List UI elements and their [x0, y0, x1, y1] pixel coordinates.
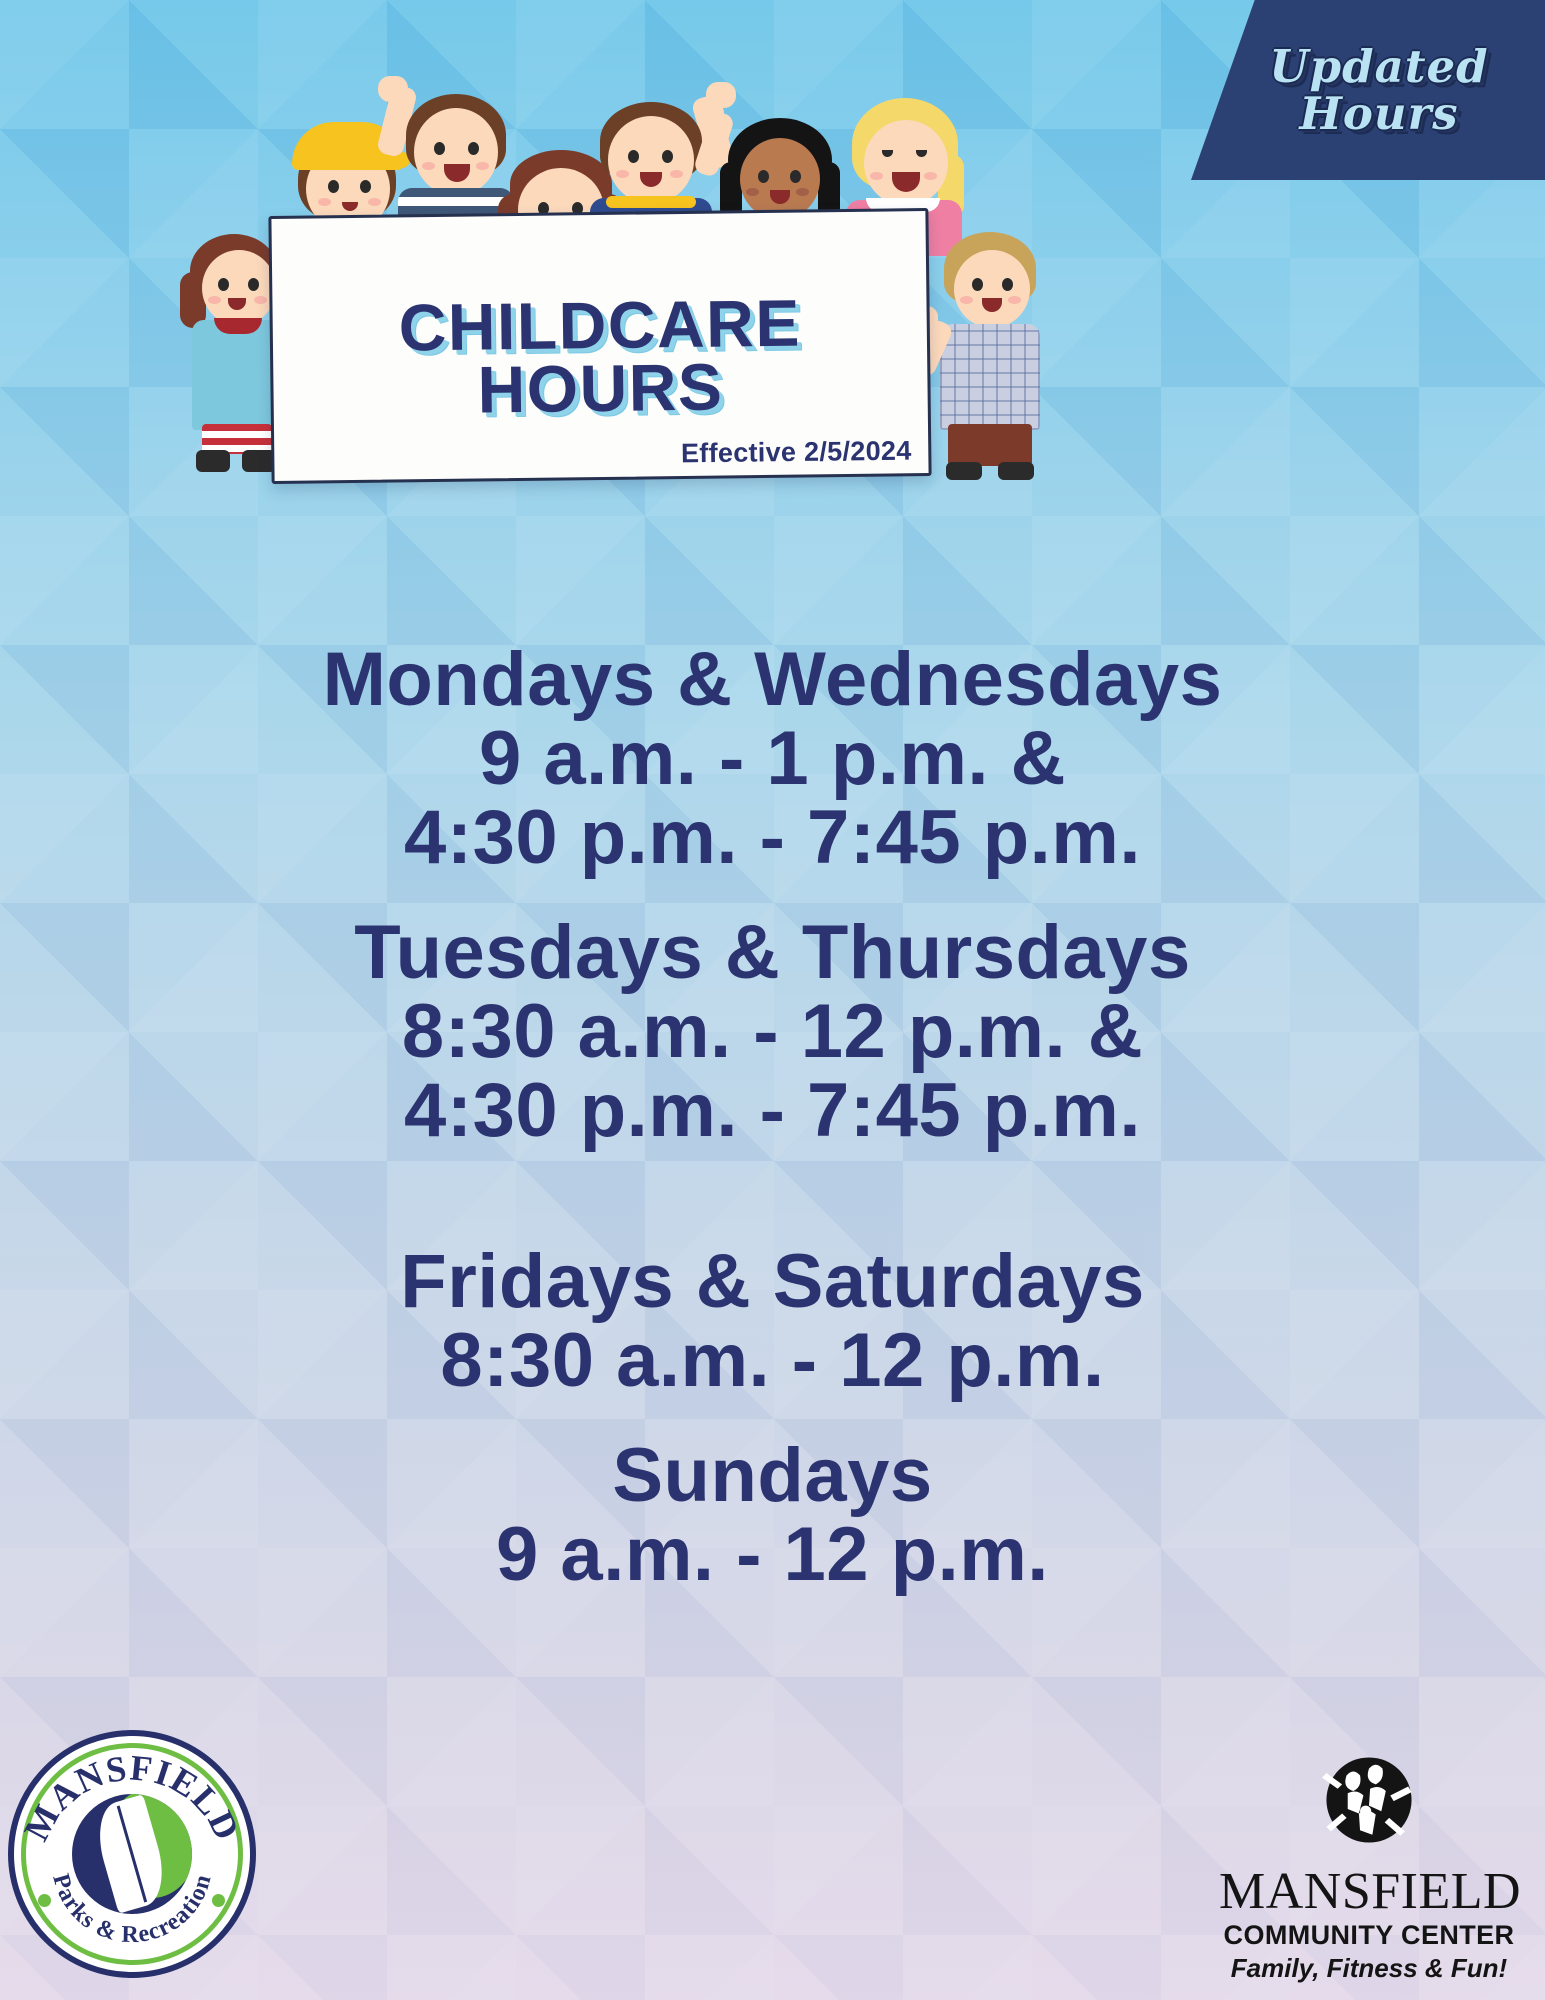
schedule-time-1-1: 4:30 p.m. - 7:45 p.m. — [0, 1071, 1545, 1150]
schedule-block-1: Tuesdays & Thursdays 8:30 a.m. - 12 p.m.… — [0, 913, 1545, 1150]
logo-arc-top-textpath: MANSFIELD — [16, 1747, 248, 1847]
schedule-block-0: Mondays & Wednesdays 9 a.m. - 1 p.m. & 4… — [0, 640, 1545, 877]
schedule-gap-0 — [0, 881, 1545, 913]
poster-canvas: Updated Hours — [0, 0, 1545, 2000]
mansfield-parks-recreation-logo: MANSFIELD Parks & Recreation — [8, 1730, 256, 1978]
schedule-time-3-0: 9 a.m. - 12 p.m. — [0, 1515, 1545, 1594]
schedule-block-3: Sundays 9 a.m. - 12 p.m. — [0, 1436, 1545, 1594]
logo-arc-bottom-text: Parks & Recreation — [47, 1871, 217, 1948]
effective-date: Effective 2/5/2024 — [681, 436, 912, 470]
schedule-gap-1 — [0, 1154, 1545, 1242]
schedule-day-1: Tuesdays & Thursdays — [0, 913, 1545, 992]
schedule-time-2-0: 8:30 a.m. - 12 p.m. — [0, 1321, 1545, 1400]
ribbon-line-2: Hours — [1299, 90, 1458, 137]
schedule-time-1-0: 8:30 a.m. - 12 p.m. & — [0, 992, 1545, 1071]
schedule-time-0-0: 9 a.m. - 1 p.m. & — [0, 719, 1545, 798]
sign-board: CHILDCARE HOURS Effective 2/5/2024 — [270, 212, 930, 480]
cc-logo-subtitle: COMMUNITY CENTER — [1219, 1920, 1519, 1951]
page-title-line-1: CHILDCARE — [398, 292, 801, 360]
kid-right-boy — [930, 228, 1060, 483]
schedule-day-3: Sundays — [0, 1436, 1545, 1515]
schedule-block-2: Fridays & Saturdays 8:30 a.m. - 12 p.m. — [0, 1242, 1545, 1400]
schedule-gap-2 — [0, 1404, 1545, 1436]
schedule-time-0-1: 4:30 p.m. - 7:45 p.m. — [0, 798, 1545, 877]
cc-logo-name: MANSFIELD — [1219, 1867, 1519, 1918]
logo-arc-bottom-textpath: Parks & Recreation — [47, 1871, 217, 1948]
schedule-list: Mondays & Wednesdays 9 a.m. - 1 p.m. & 4… — [0, 640, 1545, 1598]
mansfield-community-center-logo: MANSFIELD COMMUNITY CENTER Family, Fitne… — [1219, 1744, 1519, 1984]
logo-arc-text: MANSFIELD Parks & Recreation — [8, 1730, 256, 1978]
page-title-line-2: HOURS — [477, 355, 724, 421]
logo-arc-top-text: MANSFIELD — [16, 1747, 248, 1847]
community-people-icon — [1313, 1744, 1425, 1856]
cc-logo-tagline: Family, Fitness & Fun! — [1219, 1953, 1519, 1984]
schedule-day-0: Mondays & Wednesdays — [0, 640, 1545, 719]
schedule-day-2: Fridays & Saturdays — [0, 1242, 1545, 1321]
ribbon-line-1: Updated — [1269, 43, 1488, 90]
